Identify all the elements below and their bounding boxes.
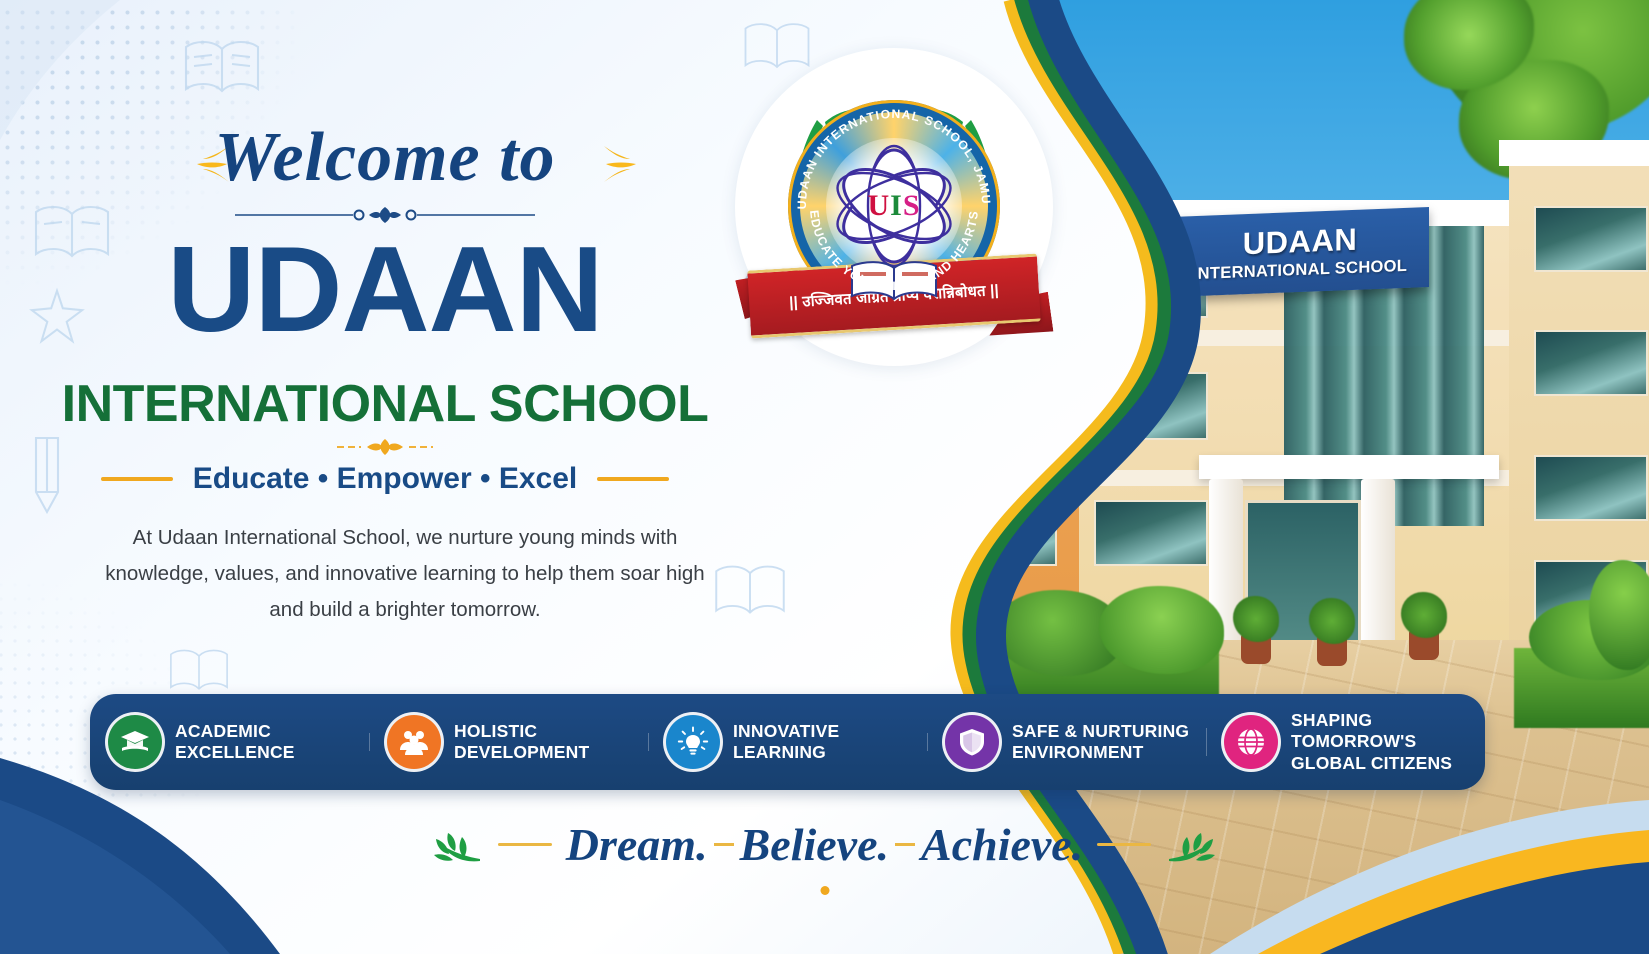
logo-blue-ring: UIS UDAAN INTERNATIONAL SCHOOL, JAMUI — [788, 100, 1000, 312]
motto-rule-left — [101, 477, 173, 481]
window — [889, 510, 947, 570]
feature-shaping-global-citizens[interactable]: SHAPING TOMORROW'S GLOBAL CITIZENS — [1206, 710, 1485, 774]
feature-safe-nurturing-environment[interactable]: SAFE & NURTURING ENVIRONMENT — [927, 715, 1206, 769]
window — [967, 500, 1057, 566]
feature-label: SAFE & NURTURING ENVIRONMENT — [1012, 721, 1189, 764]
signboard-line1: UDAAN — [1243, 222, 1357, 262]
window — [1534, 330, 1648, 396]
feature-label: INNOVATIVE LEARNING — [733, 721, 839, 764]
feature-label-line2: GLOBAL CITIZENS — [1291, 753, 1452, 773]
tagline-dash — [895, 843, 915, 846]
window — [1534, 206, 1648, 272]
feature-label-line1: INNOVATIVE — [733, 721, 839, 741]
graduation-cap-icon — [108, 715, 162, 769]
motto-rule-right — [597, 477, 669, 481]
window — [889, 390, 947, 450]
school-name-primary: UDAAN — [0, 228, 770, 350]
headline-text-block: Welcome to UDAAN INTERNATIONAL SCHOOL Ed… — [0, 0, 770, 700]
window — [967, 370, 1057, 436]
potted-plant — [1401, 592, 1447, 638]
svg-text:EDUCATE YOUR MINDS AND HEARTS: EDUCATE YOUR MINDS AND HEARTS — [807, 209, 981, 293]
leaf-sprig-left-icon — [428, 823, 484, 867]
feature-label-line2: DEVELOPMENT — [454, 742, 589, 762]
window — [1094, 500, 1208, 566]
signboard-line2: INTERNATIONAL SCHOOL — [1193, 257, 1407, 284]
tagline-rule-left — [498, 843, 552, 846]
people-group-icon — [387, 715, 441, 769]
feature-label-line2: LEARNING — [733, 742, 826, 762]
description-paragraph: At Udaan International School, we nurtur… — [95, 520, 715, 628]
tagline-word-dream: Dream. — [566, 819, 708, 870]
feature-highlights-bar: ACADEMIC EXCELLENCE HOLISTIC DEVELOPMENT — [90, 694, 1485, 790]
tagline-rule-right — [1097, 843, 1151, 846]
school-motto: Educate • Empower • Excel — [193, 462, 577, 496]
feature-label-line2: ENVIRONMENT — [1012, 742, 1144, 762]
tagline-dot-marker — [820, 886, 829, 895]
tagline-word-achieve: Achieve. — [921, 819, 1083, 870]
feature-label-line1: SAFE & NURTURING — [1012, 721, 1189, 741]
lightbulb-icon — [666, 715, 720, 769]
feature-innovative-learning[interactable]: INNOVATIVE LEARNING — [648, 715, 927, 769]
shield-icon — [945, 715, 999, 769]
welcome-heading: Welcome to — [0, 118, 770, 198]
tagline-text: Dream.Believe.Achieve. — [566, 818, 1083, 871]
feature-academic-excellence[interactable]: ACADEMIC EXCELLENCE — [90, 715, 369, 769]
svg-text:UDAAN INTERNATIONAL SCHOOL, JA: UDAAN INTERNATIONAL SCHOOL, JAMUI — [788, 100, 993, 209]
feature-label: SHAPING TOMORROW'S GLOBAL CITIZENS — [1291, 710, 1475, 774]
building-right-cornice — [1499, 140, 1649, 166]
feature-label-line1: SHAPING TOMORROW'S — [1291, 710, 1416, 751]
welcome-text: Welcome to — [214, 119, 555, 196]
window — [1094, 372, 1208, 440]
portico-roof — [1199, 455, 1499, 479]
tagline-word-believe: Believe. — [740, 819, 889, 870]
tagline-dash — [714, 843, 734, 846]
potted-plant — [1309, 598, 1355, 644]
ornamental-flourish — [335, 438, 435, 456]
feature-label-line2: EXCELLENCE — [175, 742, 295, 762]
feature-label-line1: ACADEMIC — [175, 721, 271, 741]
feature-label: ACADEMIC EXCELLENCE — [175, 721, 295, 764]
motto-row: Educate • Empower • Excel — [0, 462, 770, 496]
potted-plant — [1233, 596, 1279, 642]
leaf-sprig-right-icon — [1165, 823, 1221, 867]
feature-label: HOLISTIC DEVELOPMENT — [454, 721, 589, 764]
globe-icon — [1224, 715, 1278, 769]
logo-arc-text: UDAAN INTERNATIONAL SCHOOL, JAMUI EDUCAT… — [788, 100, 1000, 312]
feature-holistic-development[interactable]: HOLISTIC DEVELOPMENT — [369, 715, 648, 769]
feature-label-line1: HOLISTIC — [454, 721, 537, 741]
school-welcome-banner: UDAAN INTERNATIONAL SCHOOL — [0, 0, 1649, 954]
window — [1534, 455, 1648, 521]
bottom-tagline: Dream.Believe.Achieve. — [0, 818, 1649, 871]
school-name-secondary: INTERNATIONAL SCHOOL — [0, 378, 770, 430]
building-signboard: UDAAN INTERNATIONAL SCHOOL — [1171, 207, 1429, 297]
school-logo-emblem: UIS UDAAN INTERNATIONAL SCHOOL, JAMUI — [735, 48, 1053, 366]
